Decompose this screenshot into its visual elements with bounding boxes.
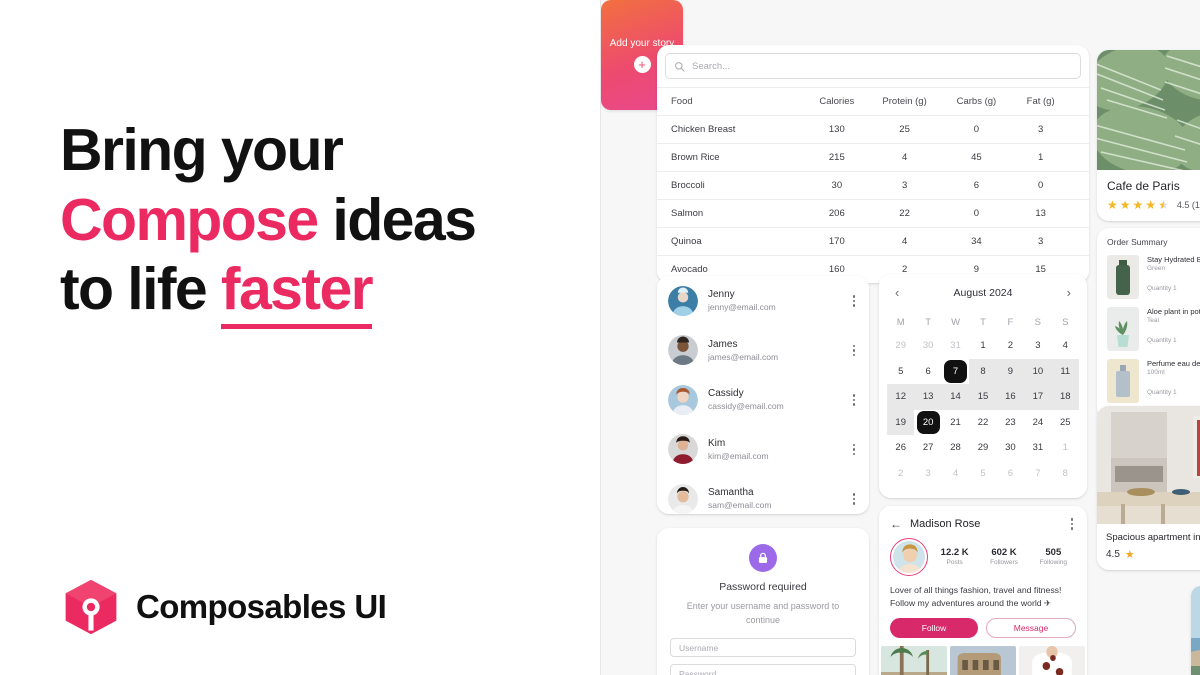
stat-value: 602 K bbox=[981, 547, 1026, 558]
password-card-title: Password required bbox=[657, 581, 869, 593]
prev-month-icon[interactable]: ‹ bbox=[895, 286, 899, 299]
star-icon: ★ bbox=[1133, 199, 1144, 211]
calendar-day[interactable]: 22 bbox=[969, 410, 996, 436]
plus-icon[interactable]: + bbox=[634, 56, 651, 73]
calendar-day[interactable]: 10 bbox=[1024, 359, 1051, 385]
calendar-day[interactable]: 25 bbox=[1052, 410, 1079, 436]
cell-protein: 22 bbox=[867, 200, 943, 228]
profile-username: Madison Rose bbox=[910, 518, 1060, 530]
lock-icon bbox=[749, 544, 777, 572]
table-row: Salmon20622013 bbox=[657, 200, 1089, 228]
profile-actions: Follow Message bbox=[879, 618, 1087, 646]
product-quantity: Quantity 1 bbox=[1147, 389, 1200, 396]
headline-line-2: Compose ideas bbox=[60, 186, 580, 256]
stat-followers: 602 K Followers bbox=[981, 547, 1026, 566]
calendar-day[interactable]: 2 bbox=[997, 333, 1024, 359]
rating-text: 4.5 (128 bbox=[1177, 200, 1200, 210]
brand-logo: Composables UI bbox=[62, 578, 386, 636]
table-header-row: Food Calories Protein (g) Carbs (g) Fat … bbox=[657, 88, 1089, 116]
back-arrow-icon[interactable]: ← bbox=[890, 517, 902, 531]
calendar-day[interactable]: 9 bbox=[997, 359, 1024, 385]
cell-carbs: 6 bbox=[943, 172, 1011, 200]
more-options-icon[interactable] bbox=[850, 343, 859, 359]
cell-carbs: 45 bbox=[943, 144, 1011, 172]
calendar-day[interactable]: 6 bbox=[997, 461, 1024, 487]
cell-food: Chicken Breast bbox=[657, 116, 807, 144]
profile-photo-grid bbox=[879, 646, 1087, 675]
story-preview-card[interactable] bbox=[1191, 586, 1200, 675]
calendar-day[interactable]: 21 bbox=[942, 410, 969, 436]
contact-email: kim@email.com bbox=[708, 451, 840, 461]
headline-word-compose: Compose bbox=[60, 187, 318, 253]
username-field[interactable]: Username bbox=[670, 638, 856, 657]
password-placeholder: Password bbox=[679, 669, 716, 675]
cell-fat: 13 bbox=[1010, 200, 1089, 228]
apartment-title: Spacious apartment in t bbox=[1106, 532, 1200, 543]
product-thumbnail bbox=[1107, 359, 1139, 403]
cell-protein: 4 bbox=[867, 144, 943, 172]
product-name: Aloe plant in pot bbox=[1147, 307, 1200, 316]
stat-posts: 12.2 K Posts bbox=[932, 547, 977, 566]
cell-protein: 3 bbox=[867, 172, 943, 200]
day-header: M bbox=[887, 311, 914, 333]
calendar-day[interactable]: 23 bbox=[997, 410, 1024, 436]
avatar bbox=[668, 434, 698, 464]
calendar-day[interactable]: 20 bbox=[914, 410, 941, 436]
calendar-day-headers: M T W T F S S bbox=[887, 311, 1079, 333]
nutrition-table-card: Search... Food Calories Protein (g) Carb… bbox=[657, 45, 1089, 283]
cell-calories: 170 bbox=[807, 228, 867, 256]
list-item[interactable]: Kim kim@email.com bbox=[657, 425, 869, 475]
day-header: T bbox=[914, 311, 941, 333]
headline-word-ideas: ideas bbox=[318, 187, 476, 253]
more-options-icon[interactable] bbox=[850, 442, 859, 458]
headline-word-faster: faster bbox=[221, 256, 372, 329]
table-row: Broccoli30360 bbox=[657, 172, 1089, 200]
stat-label: Following bbox=[1031, 559, 1076, 566]
calendar-day[interactable]: 27 bbox=[914, 435, 941, 461]
cell-carbs: 0 bbox=[943, 116, 1011, 144]
follow-button[interactable]: Follow bbox=[890, 618, 978, 638]
username-placeholder: Username bbox=[679, 643, 718, 653]
star-icon: ★ bbox=[1145, 199, 1156, 211]
order-summary-card: Order Summary Stay Hydrated Bottle Green… bbox=[1097, 228, 1200, 420]
photo-thumbnail[interactable] bbox=[881, 646, 947, 675]
avatar bbox=[890, 538, 928, 576]
cell-carbs: 34 bbox=[943, 228, 1011, 256]
table-row: Chicken Breast1302503 bbox=[657, 116, 1089, 144]
calendar-day[interactable]: 1 bbox=[1052, 435, 1079, 461]
stat-value: 12.2 K bbox=[932, 547, 977, 558]
contact-name: Kim bbox=[708, 438, 840, 449]
avatar bbox=[668, 286, 698, 316]
calendar-day-selected[interactable]: 20 bbox=[917, 411, 940, 434]
stat-value: 505 bbox=[1031, 547, 1076, 558]
list-item[interactable]: Cassidy cassidy@email.com bbox=[657, 375, 869, 425]
password-card-subtitle: Enter your username and password to cont… bbox=[657, 600, 869, 627]
cell-food: Salmon bbox=[657, 200, 807, 228]
contact-email: sam@email.com bbox=[708, 500, 840, 510]
list-item[interactable]: Jenny jenny@email.com bbox=[657, 276, 869, 326]
calendar-day[interactable]: 29 bbox=[969, 435, 996, 461]
brand-name: Composables UI bbox=[136, 588, 386, 626]
calendar-day[interactable]: 7 bbox=[942, 359, 969, 385]
cell-food: Broccoli bbox=[657, 172, 807, 200]
day-header: F bbox=[997, 311, 1024, 333]
headline-text-tolife: to life bbox=[60, 256, 221, 322]
cell-calories: 30 bbox=[807, 172, 867, 200]
calendar-day[interactable]: 7 bbox=[1024, 461, 1051, 487]
order-summary-title: Order Summary bbox=[1107, 237, 1200, 247]
cell-food: Brown Rice bbox=[657, 144, 807, 172]
column-header-calories[interactable]: Calories bbox=[807, 88, 867, 116]
calendar-day[interactable]: 4 bbox=[1052, 333, 1079, 359]
contact-email: cassidy@email.com bbox=[708, 401, 840, 411]
calendar-day[interactable]: 2 bbox=[887, 461, 914, 487]
date-range-calendar-card: ‹ August 2024 › M T W T F S S 2930311234… bbox=[879, 274, 1087, 498]
cell-fat: 0 bbox=[1010, 172, 1089, 200]
product-thumbnail bbox=[1107, 255, 1139, 299]
column-header-carbs[interactable]: Carbs (g) bbox=[943, 88, 1011, 116]
calendar-day[interactable]: 1 bbox=[969, 333, 996, 359]
calendar-day[interactable]: 29 bbox=[887, 333, 914, 359]
password-required-card: Password required Enter your username an… bbox=[657, 528, 869, 675]
product-name: Stay Hydrated Bottle bbox=[1147, 255, 1200, 264]
calendar-day-selected[interactable]: 7 bbox=[944, 360, 967, 383]
product-name: Perfume eau de parfu bbox=[1147, 359, 1200, 368]
calendar-day[interactable]: 4 bbox=[942, 461, 969, 487]
star-icon: ★ bbox=[1120, 199, 1131, 211]
more-options-icon[interactable] bbox=[850, 392, 859, 408]
search-icon bbox=[674, 61, 685, 72]
calendar-day[interactable]: 5 bbox=[969, 461, 996, 487]
calendar-day[interactable]: 14 bbox=[942, 384, 969, 410]
product-variant: Teal bbox=[1147, 317, 1200, 324]
calendar-day[interactable]: 5 bbox=[887, 359, 914, 385]
product-quantity: Quantity 1 bbox=[1147, 337, 1200, 344]
calendar-grid: 2930311234567891011121314151617181920212… bbox=[887, 333, 1079, 486]
contact-name: Cassidy bbox=[708, 388, 840, 399]
calendar-day[interactable]: 3 bbox=[1024, 333, 1051, 359]
contacts-list-card: Jenny jenny@email.com James james@email.… bbox=[657, 276, 869, 514]
list-item[interactable]: James james@email.com bbox=[657, 326, 869, 376]
calendar-day[interactable]: 31 bbox=[942, 333, 969, 359]
product-quantity: Quantity 1 bbox=[1147, 285, 1200, 292]
avatar bbox=[668, 484, 698, 514]
calendar-day[interactable]: 8 bbox=[969, 359, 996, 385]
nutrition-table: Food Calories Protein (g) Carbs (g) Fat … bbox=[657, 87, 1089, 283]
avatar bbox=[668, 335, 698, 365]
contact-name: Jenny bbox=[708, 289, 840, 300]
contact-email: jenny@email.com bbox=[708, 302, 840, 312]
calendar-header: ‹ August 2024 › bbox=[887, 284, 1079, 311]
rating-row: ★ ★ ★ ★ ★ 4.5 (128 bbox=[1107, 199, 1200, 211]
components-showcase-panel: Search... Food Calories Protein (g) Carb… bbox=[600, 0, 1200, 675]
calendar-day[interactable]: 3 bbox=[914, 461, 941, 487]
cell-protein: 25 bbox=[867, 116, 943, 144]
cell-calories: 206 bbox=[807, 200, 867, 228]
calendar-day[interactable]: 26 bbox=[887, 435, 914, 461]
calendar-day[interactable]: 17 bbox=[1024, 384, 1051, 410]
cell-calories: 130 bbox=[807, 116, 867, 144]
profile-header: ← Madison Rose bbox=[879, 506, 1087, 538]
calendar-day[interactable]: 31 bbox=[1024, 435, 1051, 461]
next-month-icon[interactable]: › bbox=[1067, 286, 1071, 299]
cube-logo-icon bbox=[62, 578, 120, 636]
profile-stats: 12.2 K Posts 602 K Followers 505 Followi… bbox=[879, 538, 1087, 584]
column-header-fat[interactable]: Fat (g) bbox=[1010, 88, 1089, 116]
calendar-day[interactable]: 28 bbox=[942, 435, 969, 461]
password-field[interactable]: Password bbox=[670, 664, 856, 675]
day-header: T bbox=[969, 311, 996, 333]
table-row: Quinoa1704343 bbox=[657, 228, 1089, 256]
calendar-day[interactable]: 11 bbox=[1052, 359, 1079, 385]
cell-protein: 4 bbox=[867, 228, 943, 256]
stat-label: Followers bbox=[981, 559, 1026, 566]
calendar-day[interactable]: 30 bbox=[997, 435, 1024, 461]
search-input[interactable]: Search... bbox=[665, 53, 1081, 79]
day-header: S bbox=[1052, 311, 1079, 333]
calendar-day[interactable]: 24 bbox=[1024, 410, 1051, 436]
column-header-protein[interactable]: Protein (g) bbox=[867, 88, 943, 116]
cell-fat: 3 bbox=[1010, 116, 1089, 144]
calendar-day[interactable]: 19 bbox=[887, 410, 914, 436]
more-options-icon[interactable] bbox=[1068, 516, 1077, 532]
calendar-day[interactable]: 8 bbox=[1052, 461, 1079, 487]
calendar-month-title: August 2024 bbox=[954, 287, 1013, 299]
page-title: Bring your Compose ideas to life faster bbox=[60, 116, 580, 325]
product-variant: 100ml bbox=[1147, 369, 1200, 376]
apartment-photo bbox=[1097, 406, 1200, 524]
message-button[interactable]: Message bbox=[986, 618, 1076, 638]
headline-line-3: to life faster bbox=[60, 255, 580, 325]
column-header-food[interactable]: Food bbox=[657, 88, 807, 116]
calendar-day[interactable]: 12 bbox=[887, 384, 914, 410]
hero-panel: Bring your Compose ideas to life faster … bbox=[0, 0, 600, 675]
half-star-icon: ★ bbox=[1158, 199, 1169, 211]
calendar-day[interactable]: 13 bbox=[914, 384, 941, 410]
profile-bio: Lover of all things fashion, travel and … bbox=[879, 584, 1087, 619]
search-placeholder: Search... bbox=[692, 61, 730, 72]
list-item[interactable]: Samantha sam@email.com bbox=[657, 474, 869, 514]
cell-food: Quinoa bbox=[657, 228, 807, 256]
contact-name: Samantha bbox=[708, 487, 840, 498]
product-variant: Green bbox=[1147, 265, 1200, 272]
rating-value: 4.5 bbox=[1106, 549, 1120, 560]
order-item: Perfume eau de parfu 100ml Quantity 1 bbox=[1107, 359, 1200, 403]
cell-calories: 215 bbox=[807, 144, 867, 172]
order-item: Aloe plant in pot Teal Quantity 1 bbox=[1107, 307, 1200, 351]
cell-carbs: 0 bbox=[943, 200, 1011, 228]
more-options-icon[interactable] bbox=[850, 491, 859, 507]
table-row: Brown Rice2154451 bbox=[657, 144, 1089, 172]
product-thumbnail bbox=[1107, 307, 1139, 351]
photo-thumbnail[interactable] bbox=[950, 646, 1016, 675]
stat-following: 505 Following bbox=[1031, 547, 1076, 566]
headline-line-1: Bring your bbox=[60, 116, 580, 186]
cafe-photo bbox=[1097, 50, 1200, 170]
social-profile-card: ← Madison Rose 12.2 K Posts 602 K Follow… bbox=[879, 506, 1087, 675]
contact-email: james@email.com bbox=[708, 352, 840, 362]
star-icon: ★ bbox=[1107, 199, 1118, 211]
cell-fat: 1 bbox=[1010, 144, 1089, 172]
cafe-rating-card: Cafe de Paris ★ ★ ★ ★ ★ 4.5 (128 bbox=[1097, 50, 1200, 221]
order-item: Stay Hydrated Bottle Green Quantity 1 bbox=[1107, 255, 1200, 299]
apartment-rating: 4.5 ★ bbox=[1106, 548, 1200, 561]
day-header: S bbox=[1024, 311, 1051, 333]
cafe-title: Cafe de Paris bbox=[1107, 179, 1200, 193]
day-header: W bbox=[942, 311, 969, 333]
calendar-day[interactable]: 30 bbox=[914, 333, 941, 359]
avatar bbox=[668, 385, 698, 415]
apartment-listing-card: Spacious apartment in t 4.5 ★ bbox=[1097, 406, 1200, 570]
star-icon: ★ bbox=[1125, 548, 1135, 561]
calendar-day[interactable]: 15 bbox=[969, 384, 996, 410]
contact-name: James bbox=[708, 339, 840, 350]
stat-label: Posts bbox=[932, 559, 977, 566]
headline-line-1-text: Bring your bbox=[60, 117, 342, 183]
calendar-day[interactable]: 18 bbox=[1052, 384, 1079, 410]
photo-thumbnail[interactable] bbox=[1019, 646, 1085, 675]
calendar-day[interactable]: 16 bbox=[997, 384, 1024, 410]
more-options-icon[interactable] bbox=[850, 293, 859, 309]
cell-fat: 3 bbox=[1010, 228, 1089, 256]
calendar-day[interactable]: 6 bbox=[914, 359, 941, 385]
